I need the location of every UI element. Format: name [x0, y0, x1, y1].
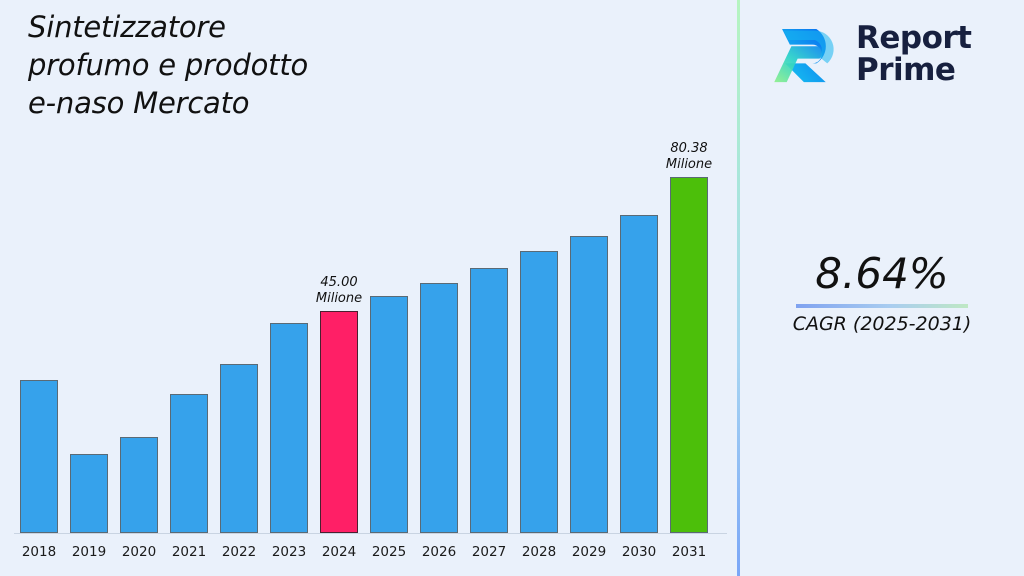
x-tick-2030: 2030 [614, 544, 664, 560]
bar-2025[interactable] [370, 296, 408, 533]
cagr-block: 8.64% CAGR (2025-2031) [740, 250, 1024, 336]
bar-group [514, 130, 564, 533]
logo-line-2: Prime [856, 54, 972, 86]
bar-chart: 45.00 Milione80.38 Milione 2018201920202… [0, 130, 737, 576]
x-tick-2024: 2024 [314, 544, 364, 560]
logo-wordmark: Report Prime [856, 22, 972, 86]
bar-2028[interactable] [520, 251, 558, 533]
brand-panel: Report Prime 8.64% CAGR (2025-2031) [740, 0, 1024, 576]
x-tick-2029: 2029 [564, 544, 614, 560]
x-tick-2025: 2025 [364, 544, 414, 560]
report-prime-logo: Report Prime [768, 12, 1020, 96]
x-tick-2018: 2018 [14, 544, 64, 560]
x-tick-2031: 2031 [664, 544, 714, 560]
bar-2022[interactable] [220, 364, 258, 533]
bar-group [114, 130, 164, 533]
x-tick-2020: 2020 [114, 544, 164, 560]
bar-group [414, 130, 464, 533]
x-tick-2021: 2021 [164, 544, 214, 560]
bar-2023[interactable] [270, 323, 308, 533]
x-tick-2022: 2022 [214, 544, 264, 560]
x-tick-2023: 2023 [264, 544, 314, 560]
x-tick-2019: 2019 [64, 544, 114, 560]
infographic-root: Sintetizzatore profumo e prodotto e-naso… [0, 0, 1024, 576]
bar-2020[interactable] [120, 437, 158, 533]
x-tick-2028: 2028 [514, 544, 564, 560]
logo-line-1: Report [856, 22, 972, 54]
report-prime-logo-icon [768, 15, 846, 93]
bar-2024[interactable] [320, 311, 358, 533]
bar-group [64, 130, 114, 533]
bar-2030[interactable] [620, 215, 658, 533]
bars-layer: 45.00 Milione80.38 Milione [0, 130, 737, 533]
bar-group [214, 130, 264, 533]
bar-group [14, 130, 64, 533]
bar-group [464, 130, 514, 533]
cagr-divider [796, 304, 968, 308]
bar-2026[interactable] [420, 283, 458, 533]
bar-group: 45.00 Milione [314, 130, 364, 533]
bar-group [364, 130, 414, 533]
bar-group: 80.38 Milione [664, 130, 714, 533]
cagr-value: 8.64% [740, 250, 1024, 298]
x-tick-2026: 2026 [414, 544, 464, 560]
bar-2021[interactable] [170, 394, 208, 533]
x-tick-2027: 2027 [464, 544, 514, 560]
page-title: Sintetizzatore profumo e prodotto e-naso… [28, 8, 448, 122]
bar-group [564, 130, 614, 533]
bar-value-label-2031: 80.38 Milione [651, 141, 727, 173]
bar-group [164, 130, 214, 533]
bar-2029[interactable] [570, 236, 608, 533]
bar-2031[interactable] [670, 177, 708, 533]
bar-group [614, 130, 664, 533]
bar-2027[interactable] [470, 268, 508, 533]
chart-panel: Sintetizzatore profumo e prodotto e-naso… [0, 0, 737, 576]
cagr-caption: CAGR (2025-2031) [740, 312, 1024, 336]
x-axis-tick-labels: 2018201920202021202220232024202520262027… [0, 534, 737, 574]
bar-2019[interactable] [70, 454, 108, 533]
bar-2018[interactable] [20, 380, 58, 533]
bar-group [264, 130, 314, 533]
